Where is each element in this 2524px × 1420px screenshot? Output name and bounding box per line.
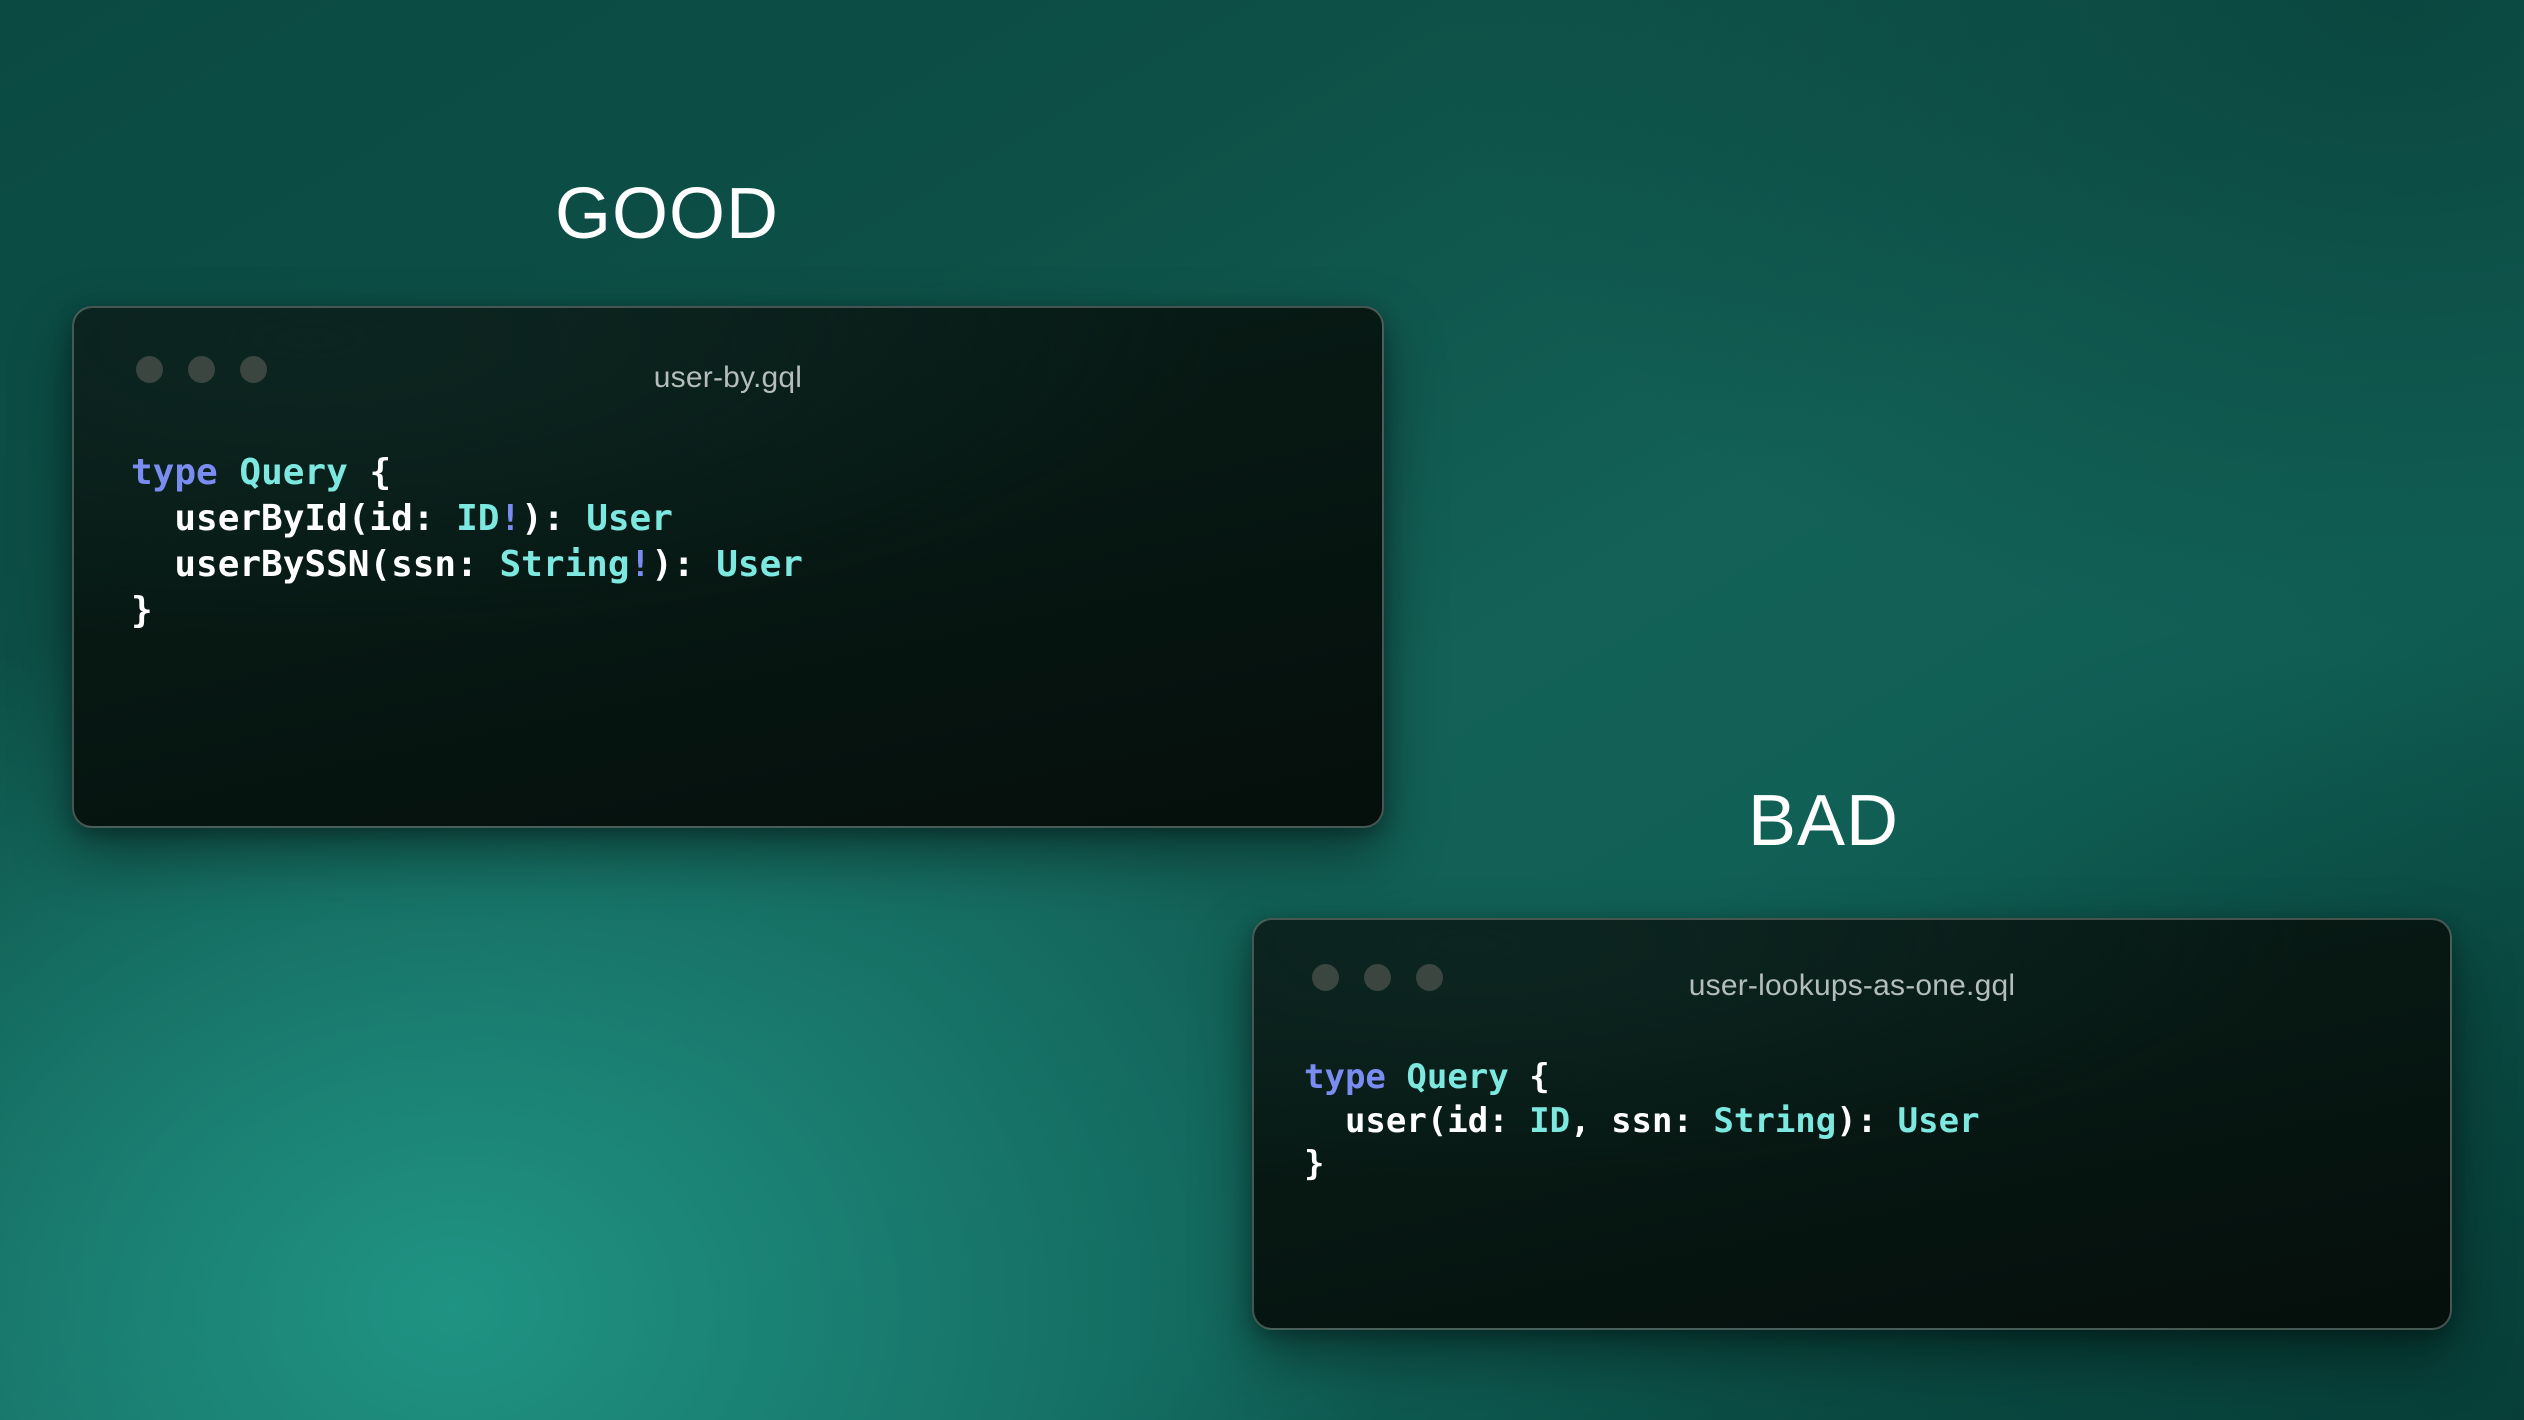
maximize-dot-icon[interactable] — [240, 356, 267, 383]
code-token-plain: } — [1304, 1144, 1324, 1184]
code-token-keyword: ! — [499, 498, 521, 539]
code-content-good: type Query { userById(id: ID!): User use… — [74, 400, 1382, 634]
code-line: type Query { — [1304, 1056, 2450, 1100]
canvas-background: GOOD user-by.gql type Query { userById(i… — [0, 0, 2524, 1420]
good-example-label: GOOD — [555, 178, 779, 250]
code-line: userBySSN(ssn: String!): User — [131, 542, 1382, 588]
code-token-type: String — [1713, 1101, 1836, 1141]
window-titlebar: user-by.gql — [74, 308, 1382, 400]
code-window-good: user-by.gql type Query { userById(id: ID… — [72, 306, 1384, 828]
code-line: } — [131, 588, 1382, 634]
code-token-plain: { — [348, 452, 391, 493]
minimize-dot-icon[interactable] — [188, 356, 215, 383]
code-token-plain: ): — [521, 498, 586, 539]
code-token-plain: { — [1509, 1057, 1550, 1097]
code-token-type: User — [1898, 1101, 1980, 1141]
code-token-plain — [1386, 1057, 1406, 1097]
code-token-plain: userBySSN(ssn: — [131, 544, 499, 585]
code-token-plain: ): — [1836, 1101, 1897, 1141]
minimize-dot-icon[interactable] — [1364, 964, 1391, 991]
code-content-bad: type Query { user(id: ID, ssn: String): … — [1254, 1008, 2450, 1187]
maximize-dot-icon[interactable] — [1416, 964, 1443, 991]
code-token-plain: ): — [651, 544, 716, 585]
code-token-plain — [218, 452, 240, 493]
code-token-plain: } — [131, 590, 153, 631]
code-token-keyword: type — [1304, 1057, 1386, 1097]
code-line: userById(id: ID!): User — [131, 496, 1382, 542]
window-title-good: user-by.gql — [74, 315, 1382, 393]
code-token-type: String — [499, 544, 629, 585]
close-dot-icon[interactable] — [136, 356, 163, 383]
code-token-plain: user(id: — [1304, 1101, 1529, 1141]
traffic-light-dots — [1312, 964, 1443, 991]
code-token-plain: , ssn: — [1570, 1101, 1713, 1141]
window-titlebar: user-lookups-as-one.gql — [1254, 920, 2450, 1008]
bad-example-label: BAD — [1748, 785, 1899, 857]
code-token-type: ID — [1529, 1101, 1570, 1141]
code-token-type: Query — [1406, 1057, 1508, 1097]
code-token-type: User — [586, 498, 673, 539]
code-token-keyword: ! — [630, 544, 652, 585]
code-token-keyword: type — [131, 452, 218, 493]
close-dot-icon[interactable] — [1312, 964, 1339, 991]
code-token-type: ID — [456, 498, 499, 539]
code-token-type: Query — [239, 452, 347, 493]
code-token-type: User — [716, 544, 803, 585]
code-line: user(id: ID, ssn: String): User — [1304, 1100, 2450, 1144]
code-line: } — [1304, 1143, 2450, 1187]
code-window-bad: user-lookups-as-one.gql type Query { use… — [1252, 918, 2452, 1330]
traffic-light-dots — [136, 356, 267, 383]
code-line: type Query { — [131, 450, 1382, 496]
code-token-plain: userById(id: — [131, 498, 456, 539]
